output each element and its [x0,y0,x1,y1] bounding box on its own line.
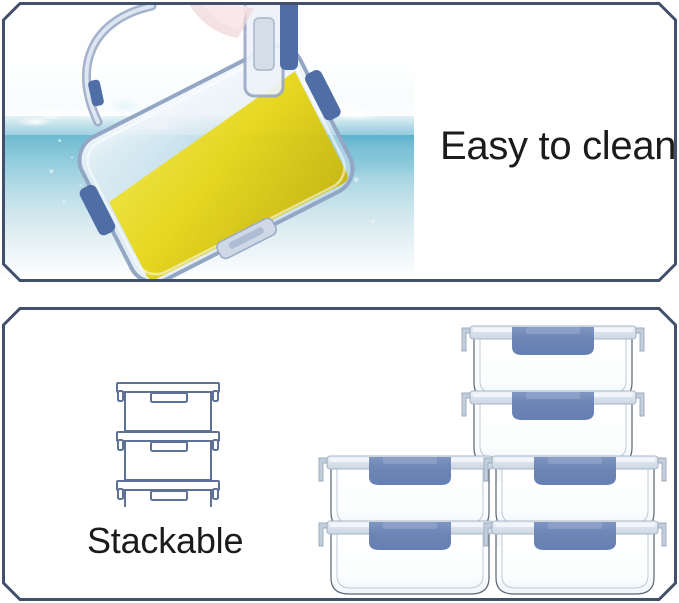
panel-easy-to-clean: Easy to clean [2,2,677,282]
panel-stackable: Stackable [2,307,677,601]
stacked-containers-icon [107,375,237,507]
stack-box-1 [117,383,219,431]
panel-stackable-content: Stackable [2,307,677,601]
caption-easy-to-clean: Easy to clean [440,124,676,169]
stack-box-2 [117,432,219,480]
container-2 [462,391,644,464]
panel-easy-to-clean-content: Easy to clean [2,2,677,282]
container-3 [319,456,501,529]
container-5 [319,521,501,594]
container-1 [462,326,644,399]
product-feature-image: Easy to clean [0,0,679,603]
water-splash-photo [2,2,414,280]
container-4 [484,456,666,529]
submerged-container-illustration [2,2,414,280]
caption-stackable: Stackable [87,520,243,562]
stack-box-3 [117,481,219,507]
container-6 [484,521,666,594]
six-containers-photo [308,317,673,601]
